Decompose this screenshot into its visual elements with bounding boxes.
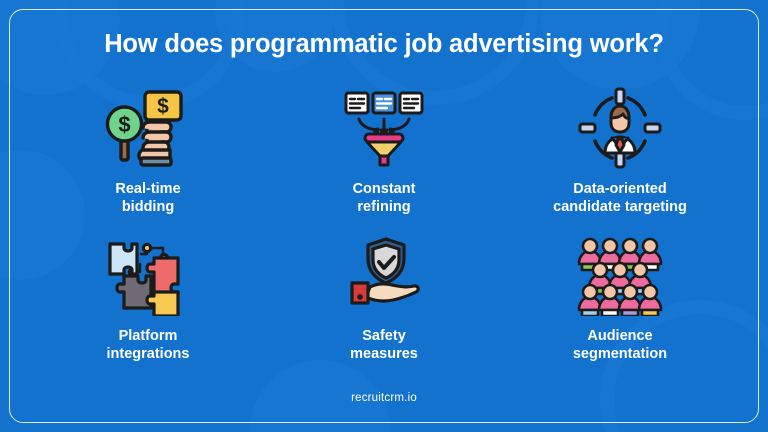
- feature-item-candidate-targeting: Data-oriented candidate targeting: [502, 82, 738, 225]
- feature-grid: $ $ Real-time bidding: [30, 82, 738, 372]
- page-title: How does programmatic job advertising wo…: [0, 30, 768, 59]
- feature-item-audience-segmentation: Audience segmentation: [502, 229, 738, 372]
- slide-canvas: How does programmatic job advertising wo…: [0, 0, 768, 432]
- feature-label: Audience segmentation: [573, 327, 667, 363]
- feature-item-constant-refining: Constant refining: [266, 82, 502, 225]
- svg-text:$: $: [118, 112, 130, 137]
- feature-label: Real-time bidding: [115, 180, 180, 216]
- person-crosshair-target-icon: [578, 82, 662, 174]
- crowd-people-icon: [577, 229, 663, 321]
- feature-item-platform-integrations: Platform integrations: [30, 229, 266, 372]
- hand-shield-check-icon: [340, 229, 428, 321]
- auction-paddle-dollar-icon: $ $: [105, 82, 191, 174]
- feature-item-safety-measures: Safety measures: [266, 229, 502, 372]
- feature-item-real-time-bidding: $ $ Real-time bidding: [30, 82, 266, 225]
- footer-brand: recruitcrm.io: [0, 392, 768, 404]
- feature-label: Data-oriented candidate targeting: [553, 180, 687, 216]
- feature-label: Safety measures: [350, 327, 418, 363]
- svg-text:$: $: [157, 95, 169, 118]
- puzzle-pieces-circuit-icon: [104, 229, 192, 321]
- feature-label: Constant refining: [353, 180, 416, 216]
- feature-label: Platform integrations: [107, 327, 190, 363]
- documents-funnel-icon: [341, 82, 427, 174]
